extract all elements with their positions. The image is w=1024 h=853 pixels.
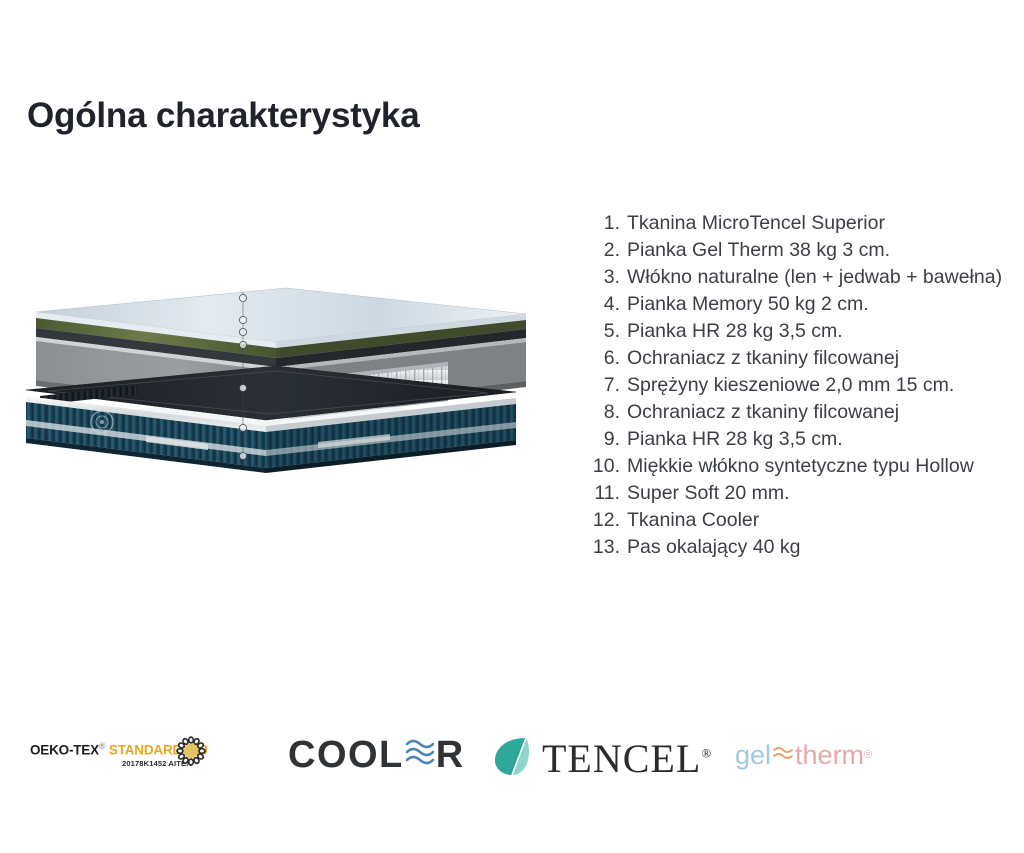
- list-item-label: Super Soft 20 mm.: [627, 480, 1016, 507]
- callout-marker: [239, 294, 246, 301]
- list-item-label: Miękkie włókno syntetyczne typu Hollow: [627, 453, 1016, 480]
- callout-marker: [239, 316, 246, 323]
- list-item: 6. Ochraniacz z tkaniny filcowanej: [586, 345, 1016, 372]
- callout-marker: [239, 424, 246, 431]
- logo-gel-therm: gel therm®: [735, 742, 872, 769]
- callout-marker: [239, 341, 246, 348]
- logo-tencel: TENCEL®: [492, 734, 712, 783]
- list-item-number: 12.: [586, 507, 620, 534]
- registered-mark-icon: ®: [701, 745, 712, 760]
- list-item: 12. Tkanina Cooler: [586, 507, 1016, 534]
- list-item-number: 3.: [586, 264, 620, 291]
- logo-oeko-tex: OEKO-TEX® STANDARD 100 20178K1452 AITEX: [30, 736, 208, 773]
- list-item: 3. Włókno naturalne (len + jedwab + bawe…: [586, 264, 1016, 291]
- list-item: 4. Pianka Memory 50 kg 2 cm.: [586, 291, 1016, 318]
- list-item-label: Pianka Gel Therm 38 kg 3 cm.: [627, 237, 1016, 264]
- gel-therm-waves-icon: [773, 742, 793, 769]
- oeko-tex-flower-icon: [174, 734, 208, 773]
- list-item: 13. Pas okalający 40 kg: [586, 534, 1016, 561]
- list-item-label: Włókno naturalne (len + jedwab + bawełna…: [627, 264, 1016, 291]
- page-title: Ogólna charakterystyka: [27, 96, 419, 136]
- tencel-text: TENCEL: [542, 736, 701, 781]
- list-item-number: 1.: [586, 210, 620, 237]
- tencel-wordmark: TENCEL®: [542, 739, 712, 779]
- list-item-label: Ochraniacz z tkaniny filcowanej: [627, 399, 1016, 426]
- certification-logo-strip: OEKO-TEX® STANDARD 100 20178K1452 AITEX: [0, 718, 1024, 798]
- cooler-waves-icon: [405, 734, 435, 775]
- list-item: 7. Sprężyny kieszeniowe 2,0 mm 15 cm.: [586, 372, 1016, 399]
- gel-therm-wordmark: gel therm®: [735, 742, 872, 769]
- list-item-label: Pianka HR 28 kg 3,5 cm.: [627, 426, 1016, 453]
- registered-mark-icon: ®: [99, 741, 105, 751]
- list-item-number: 6.: [586, 345, 620, 372]
- cooler-text-after: R: [436, 736, 465, 774]
- mattress-cutaway-illustration: [18, 270, 578, 500]
- oeko-tex-brand: OEKO-TEX: [30, 742, 99, 757]
- gel-therm-therm-text: therm: [795, 742, 864, 769]
- slide-root: Ogólna charakterystyka: [0, 0, 1024, 853]
- registered-mark-icon: ®: [864, 750, 872, 761]
- callout-marker: [239, 452, 246, 459]
- list-item-number: 4.: [586, 291, 620, 318]
- list-item-label: Pianka Memory 50 kg 2 cm.: [627, 291, 1016, 318]
- callout-marker: [239, 384, 246, 391]
- list-item-label: Pas okalający 40 kg: [627, 534, 1016, 561]
- list-item-number: 8.: [586, 399, 620, 426]
- tencel-leaf-icon: [492, 734, 532, 783]
- list-item: 9. Pianka HR 28 kg 3,5 cm.: [586, 426, 1016, 453]
- list-item-number: 11.: [586, 480, 620, 507]
- list-item-label: Pianka HR 28 kg 3,5 cm.: [627, 318, 1016, 345]
- list-item-label: Tkanina MicroTencel Superior: [627, 210, 1016, 237]
- list-item-label: Sprężyny kieszeniowe 2,0 mm 15 cm.: [627, 372, 1016, 399]
- list-item-number: 7.: [586, 372, 620, 399]
- mattress-diagram-svg: [18, 270, 578, 500]
- list-item-label: Ochraniacz z tkaniny filcowanej: [627, 345, 1016, 372]
- list-item: 10. Miękkie włókno syntetyczne typu Holl…: [586, 453, 1016, 480]
- cooler-wordmark: COOL R: [288, 734, 465, 775]
- logo-cooler: COOL R: [288, 734, 465, 775]
- gel-therm-gel-text: gel: [735, 742, 771, 769]
- list-item: 5. Pianka HR 28 kg 3,5 cm.: [586, 318, 1016, 345]
- cooler-text-before: COOL: [288, 736, 404, 774]
- list-item-number: 9.: [586, 426, 620, 453]
- list-item-label: Tkanina Cooler: [627, 507, 1016, 534]
- callout-marker: [239, 328, 246, 335]
- list-item-number: 10.: [586, 453, 620, 480]
- list-item: 1. Tkanina MicroTencel Superior: [586, 210, 1016, 237]
- specification-list: 1. Tkanina MicroTencel Superior 2. Piank…: [586, 210, 1016, 561]
- list-item: 8. Ochraniacz z tkaniny filcowanej: [586, 399, 1016, 426]
- list-item: 11. Super Soft 20 mm.: [586, 480, 1016, 507]
- list-item-number: 13.: [586, 534, 620, 561]
- list-item-number: 2.: [586, 237, 620, 264]
- list-item-number: 5.: [586, 318, 620, 345]
- list-item: 2. Pianka Gel Therm 38 kg 3 cm.: [586, 237, 1016, 264]
